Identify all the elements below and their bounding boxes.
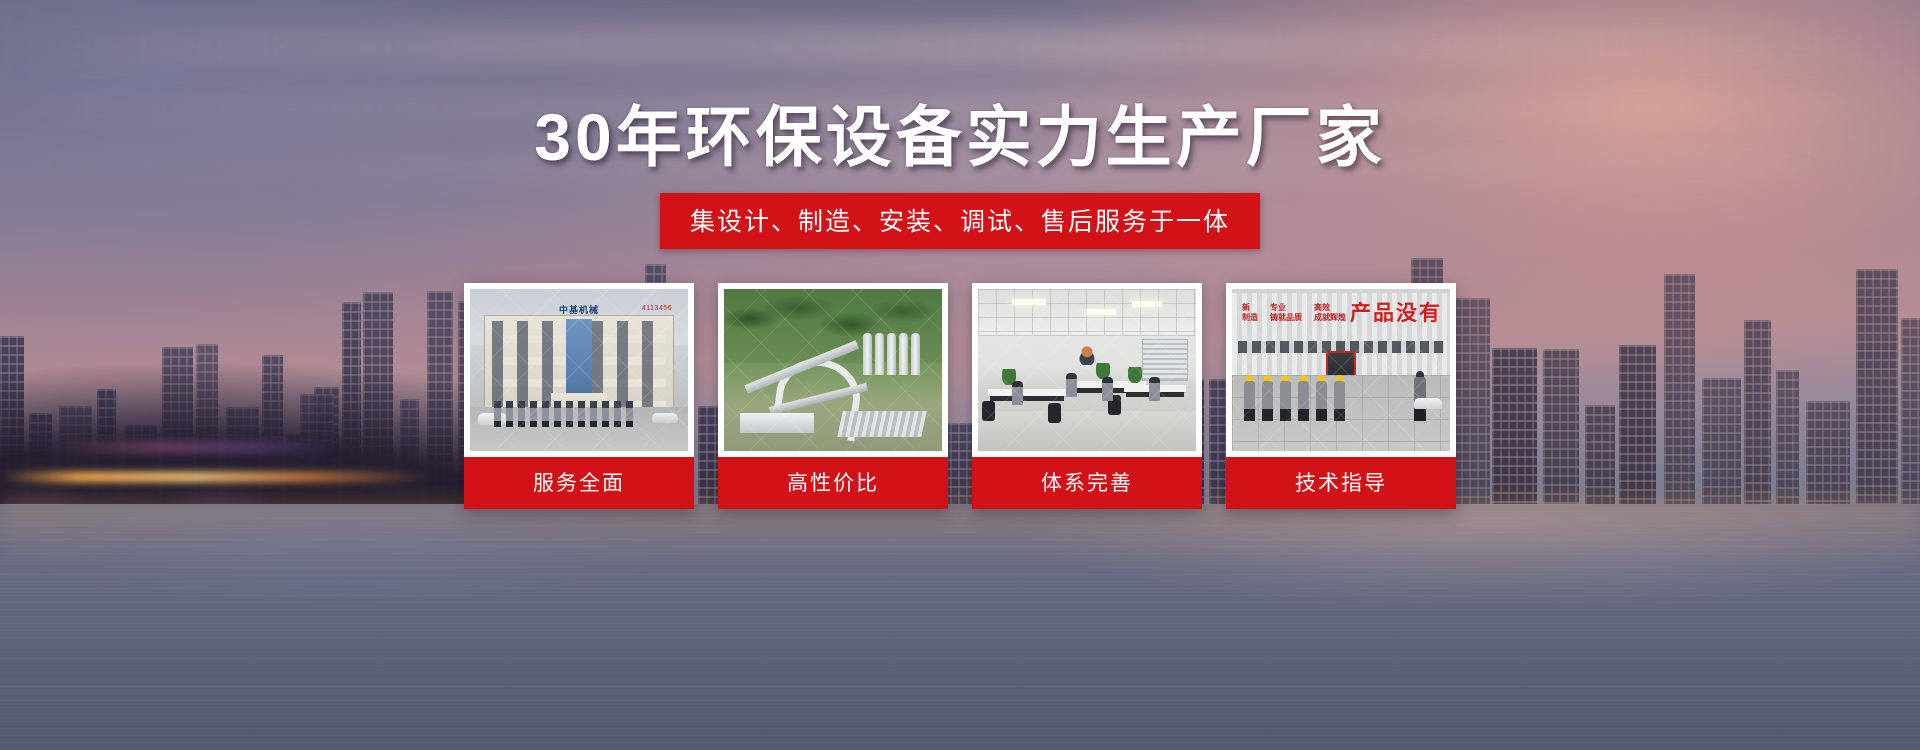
desk-surface: [988, 389, 1068, 396]
office-chair: [982, 401, 995, 421]
feature-card-list: 中基机械 4113456 服务全面: [464, 283, 1456, 509]
plant-workshop: [740, 413, 814, 433]
parked-car-icon: [1414, 398, 1442, 409]
office-chair: [1048, 403, 1061, 423]
card-photo-office-interior: [978, 289, 1196, 451]
feature-card[interactable]: 中基机械 4113456 服务全面: [464, 283, 694, 509]
feature-card[interactable]: 高性价比: [718, 283, 948, 509]
card-photo-factory-yard: 产品没有 新制造专业铸就品质高效成就辉煌: [1232, 289, 1450, 451]
office-worker: [1149, 377, 1160, 401]
office-worker: [1012, 381, 1023, 405]
feature-card[interactable]: 产品没有 新制造专业铸就品质高效成就辉煌 技术指: [1226, 283, 1456, 509]
card-label: 技术指导: [1226, 457, 1456, 509]
factory-banner-text: 产品没有: [1350, 297, 1442, 327]
hero-banner: 30年环保设备实力生产厂家 集设计、制造、安装、调试、售后服务于一体 中基机械 …: [0, 0, 1920, 750]
office-worker: [1066, 373, 1077, 397]
staff-lineup: [494, 401, 633, 427]
ceiling-light-icon: [1132, 301, 1162, 307]
office-floor: [978, 411, 1196, 451]
feature-card[interactable]: 体系完善: [972, 283, 1202, 509]
building-phone-number: 4113456: [642, 305, 672, 312]
parked-car-icon: [652, 413, 678, 423]
plant-workshop: [837, 411, 927, 437]
ceiling-light-icon: [1086, 309, 1116, 315]
ceiling-light-icon: [1012, 299, 1046, 305]
building-signage: 中基机械: [559, 303, 599, 316]
card-label: 体系完善: [972, 457, 1202, 509]
storage-silos: [863, 333, 920, 375]
potted-plant-icon: [1128, 367, 1142, 383]
card-label: 服务全面: [464, 457, 694, 509]
banner-content: 30年环保设备实力生产厂家 集设计、制造、安装、调试、售后服务于一体 中基机械 …: [0, 0, 1920, 750]
wall-decal: [1073, 343, 1101, 365]
factory-slogans: 新制造专业铸就品质高效成就辉煌: [1242, 303, 1346, 324]
card-label: 高性价比: [718, 457, 948, 509]
office-window: [1142, 339, 1188, 381]
worker-crew: [1244, 381, 1345, 421]
card-photo-aerial-plant: [724, 289, 942, 451]
banner-subtitle-bar: 集设计、制造、安装、调试、售后服务于一体: [660, 193, 1260, 249]
card-photo-office-building: 中基机械 4113456: [470, 289, 688, 451]
banner-headline: 30年环保设备实力生产厂家: [0, 104, 1920, 170]
office-worker: [1102, 377, 1113, 401]
